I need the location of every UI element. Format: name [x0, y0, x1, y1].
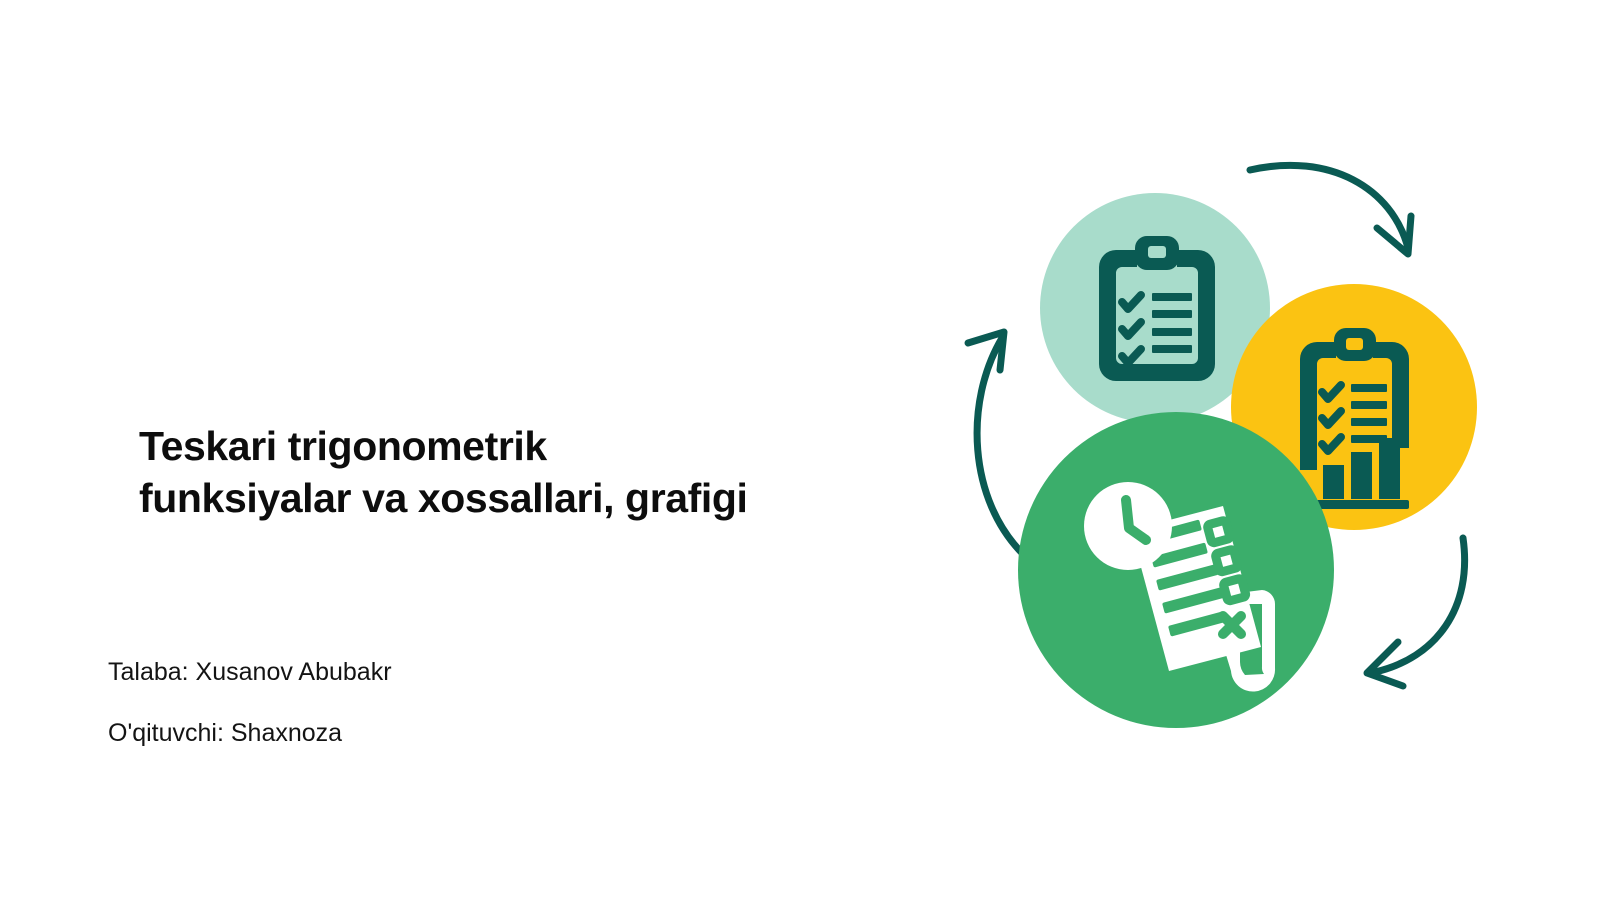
arrow-left-curved-up: [968, 332, 1024, 555]
exam-checklist-illustration: [930, 130, 1530, 750]
arrow-right-curved-down-left: [1367, 538, 1465, 686]
arrow-top-curved-right: [1250, 165, 1411, 254]
student-name-line: Talaba: Xusanov Abubakr: [108, 655, 728, 689]
title-text-block: Teskari trigonometrik funksiyalar va xos…: [0, 0, 900, 900]
presenter-info: Talaba: Xusanov Abubakr O'qituvchi: Shax…: [108, 655, 728, 777]
page-title: Teskari trigonometrik funksiyalar va xos…: [139, 420, 869, 524]
teacher-name-line: O'qituvchi: Shaxnoza: [108, 716, 728, 750]
presentation-slide: Teskari trigonometrik funksiyalar va xos…: [0, 0, 1600, 900]
